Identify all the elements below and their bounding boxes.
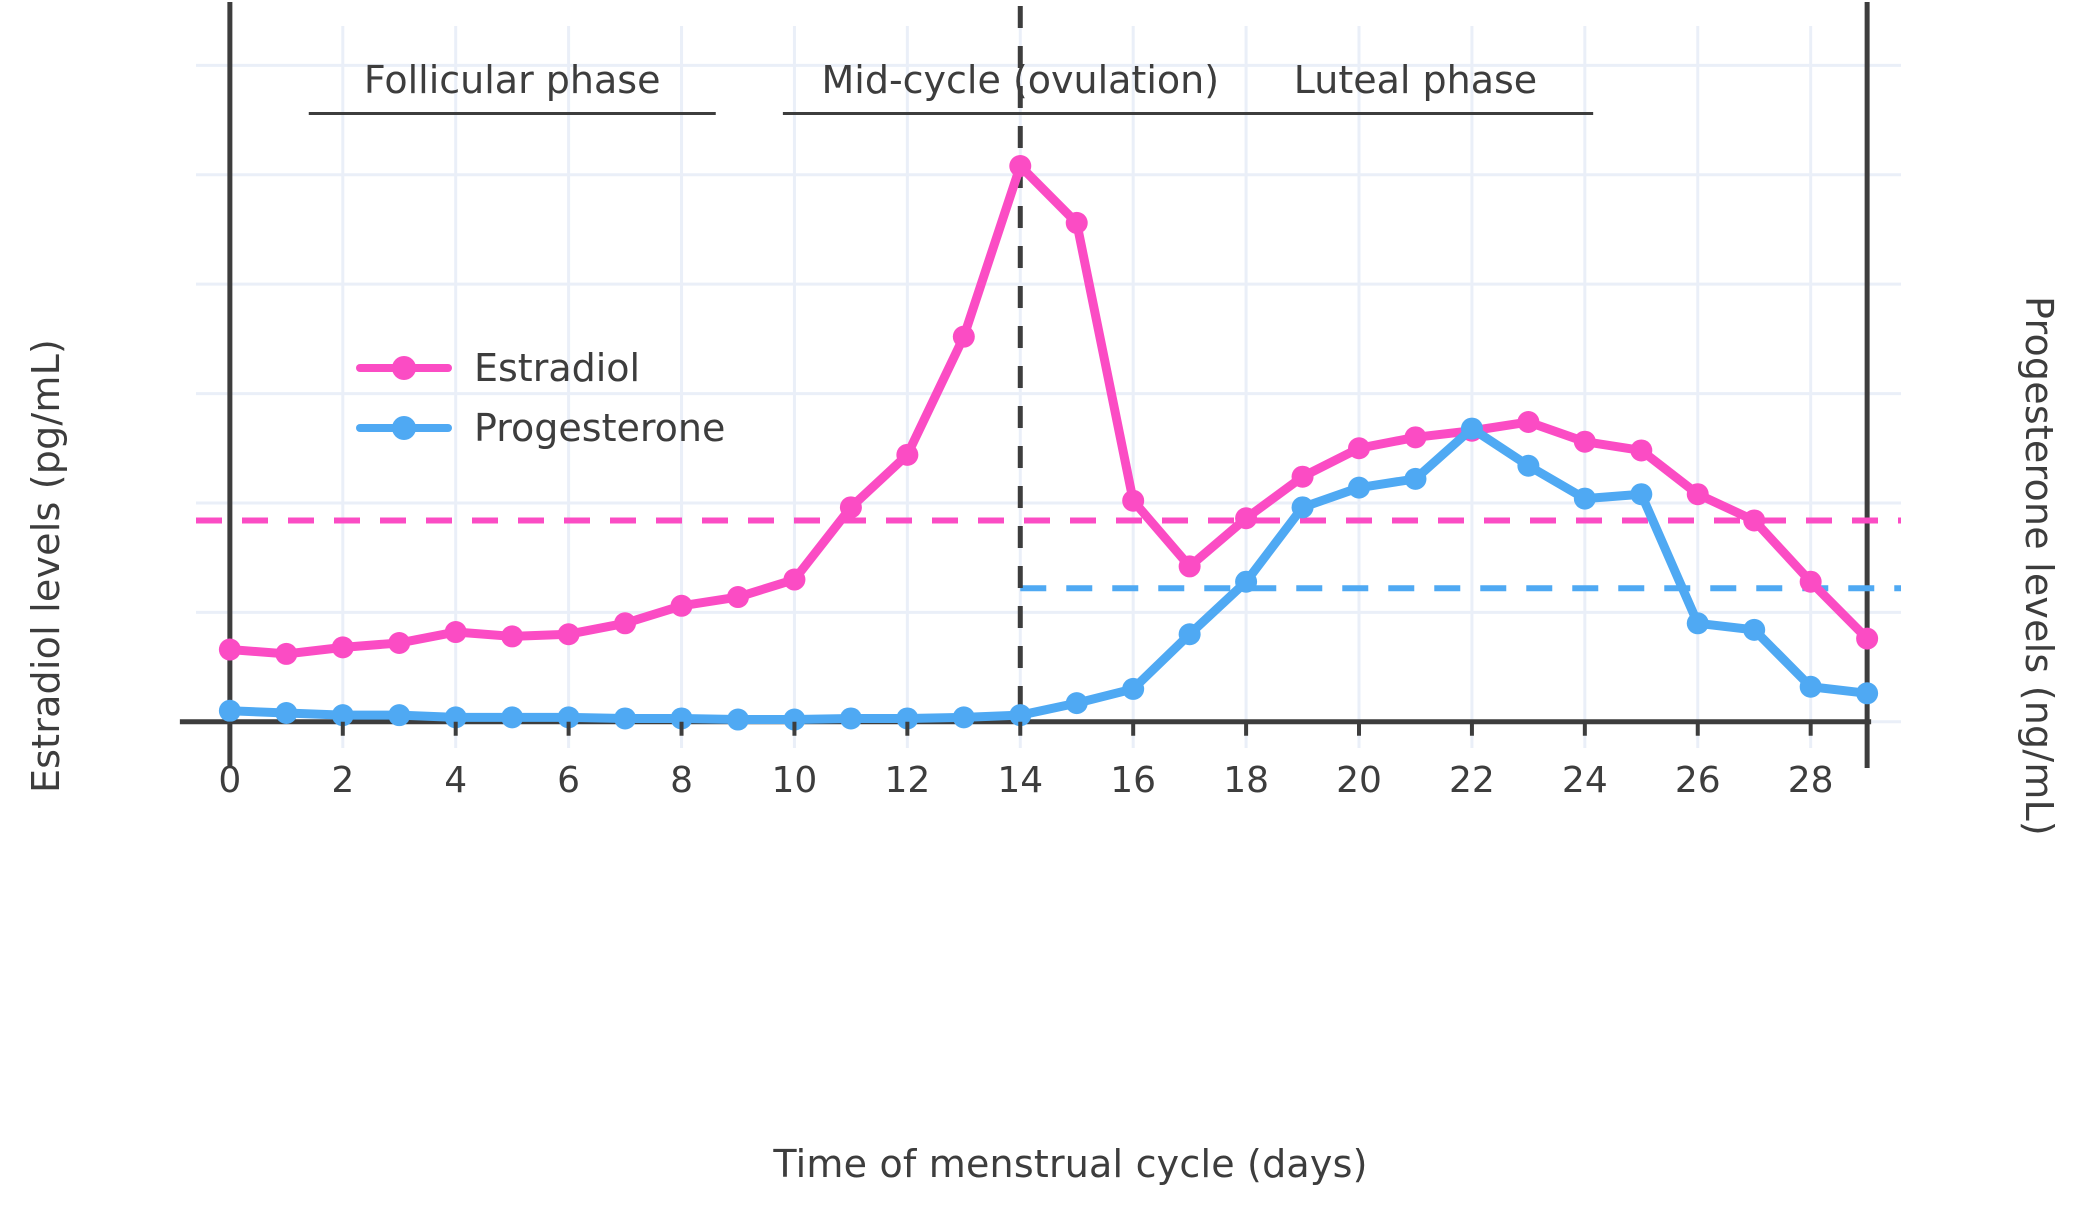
data-point <box>332 636 354 658</box>
data-point <box>219 700 241 722</box>
y-axis-right-ticks: 051015202530 <box>1897 0 2077 1208</box>
data-point <box>1517 411 1539 433</box>
data-point <box>1404 426 1426 448</box>
data-point <box>501 706 523 728</box>
x-axis-tick-label: 14 <box>997 760 1043 801</box>
legend-marker-icon <box>392 416 416 440</box>
data-point <box>614 612 636 634</box>
data-point <box>1348 437 1370 459</box>
data-point <box>388 704 410 726</box>
data-point <box>1743 509 1765 531</box>
data-point <box>783 569 805 591</box>
data-point <box>219 639 241 661</box>
x-axis-title: Time of menstrual cycle (days) <box>773 1142 1367 1186</box>
data-point <box>1461 418 1483 440</box>
series-line-progesterone <box>230 429 1867 720</box>
legend-item-label: Estradiol <box>474 346 640 390</box>
data-point <box>1009 155 1031 177</box>
x-axis-tick-label: 22 <box>1449 760 1495 801</box>
legend-item[interactable]: Progesterone <box>356 398 725 458</box>
data-point <box>1235 571 1257 593</box>
phase-annotation-rule <box>309 112 715 115</box>
data-point <box>1066 692 1088 714</box>
data-point <box>1292 496 1314 518</box>
phase-annotation-rule <box>783 112 1257 115</box>
x-axis-tick-label: 4 <box>444 760 467 801</box>
series-progesterone <box>219 418 1878 731</box>
data-point <box>896 444 918 466</box>
data-point <box>614 707 636 729</box>
data-point <box>1122 678 1144 700</box>
data-point <box>1404 468 1426 490</box>
phase-annotation-label: Luteal phase <box>1238 58 1594 112</box>
legend-swatch <box>356 413 452 443</box>
x-axis-tick-label: 6 <box>557 760 580 801</box>
data-point <box>727 586 749 608</box>
data-point <box>275 702 297 724</box>
data-point <box>388 632 410 654</box>
x-axis-tick-label: 26 <box>1675 760 1721 801</box>
data-point <box>1066 212 1088 234</box>
data-point <box>1856 682 1878 704</box>
x-axis-tick-label: 12 <box>884 760 930 801</box>
phase-annotation-rule <box>1238 112 1594 115</box>
data-point <box>1574 488 1596 510</box>
data-point <box>840 707 862 729</box>
data-point <box>1856 628 1878 650</box>
chart-legend: EstradiolProgesterone <box>356 338 725 458</box>
data-point <box>1517 455 1539 477</box>
phase-annotation: Luteal phase <box>1238 58 1594 115</box>
data-point <box>953 706 975 728</box>
data-point <box>1179 555 1201 577</box>
data-point <box>1630 483 1652 505</box>
legend-item[interactable]: Estradiol <box>356 338 725 398</box>
data-point <box>1179 623 1201 645</box>
data-point <box>1687 612 1709 634</box>
data-point <box>1348 477 1370 499</box>
data-point <box>727 709 749 731</box>
data-point <box>501 625 523 647</box>
x-axis-tick-label: 28 <box>1788 760 1834 801</box>
data-point <box>1800 571 1822 593</box>
data-point <box>1235 507 1257 529</box>
data-point <box>671 595 693 617</box>
chart-figure: Estradiol levels (pg/mL) Progesterone le… <box>0 0 2077 1208</box>
legend-item-label: Progesterone <box>474 406 725 450</box>
data-point <box>1574 431 1596 453</box>
data-point <box>1743 619 1765 641</box>
data-point <box>1630 439 1652 461</box>
reference-lines <box>196 520 1901 588</box>
data-point <box>1800 676 1822 698</box>
data-point <box>840 496 862 518</box>
legend-swatch <box>356 353 452 383</box>
x-axis-tick-label: 24 <box>1562 760 1608 801</box>
data-point <box>275 643 297 665</box>
x-axis-tick-label: 2 <box>331 760 354 801</box>
data-point <box>558 623 580 645</box>
phase-annotation-label: Mid-cycle (ovulation) <box>783 58 1257 112</box>
data-point <box>445 621 467 643</box>
phase-annotation: Mid-cycle (ovulation) <box>783 58 1257 115</box>
data-point <box>1122 490 1144 512</box>
x-axis-tick-label: 16 <box>1110 760 1156 801</box>
data-point <box>1292 466 1314 488</box>
x-axis-tick-label: 18 <box>1223 760 1269 801</box>
x-axis-tick-label: 10 <box>772 760 818 801</box>
x-axis-tick-label: 8 <box>670 760 693 801</box>
x-axis-tick-label: 20 <box>1336 760 1382 801</box>
data-point <box>1687 483 1709 505</box>
data-point <box>953 326 975 348</box>
phase-annotation-label: Follicular phase <box>309 58 715 112</box>
y-axis-left-ticks: 050100150200250300 <box>0 0 180 1208</box>
phase-annotation: Follicular phase <box>309 58 715 115</box>
legend-marker-icon <box>392 356 416 380</box>
